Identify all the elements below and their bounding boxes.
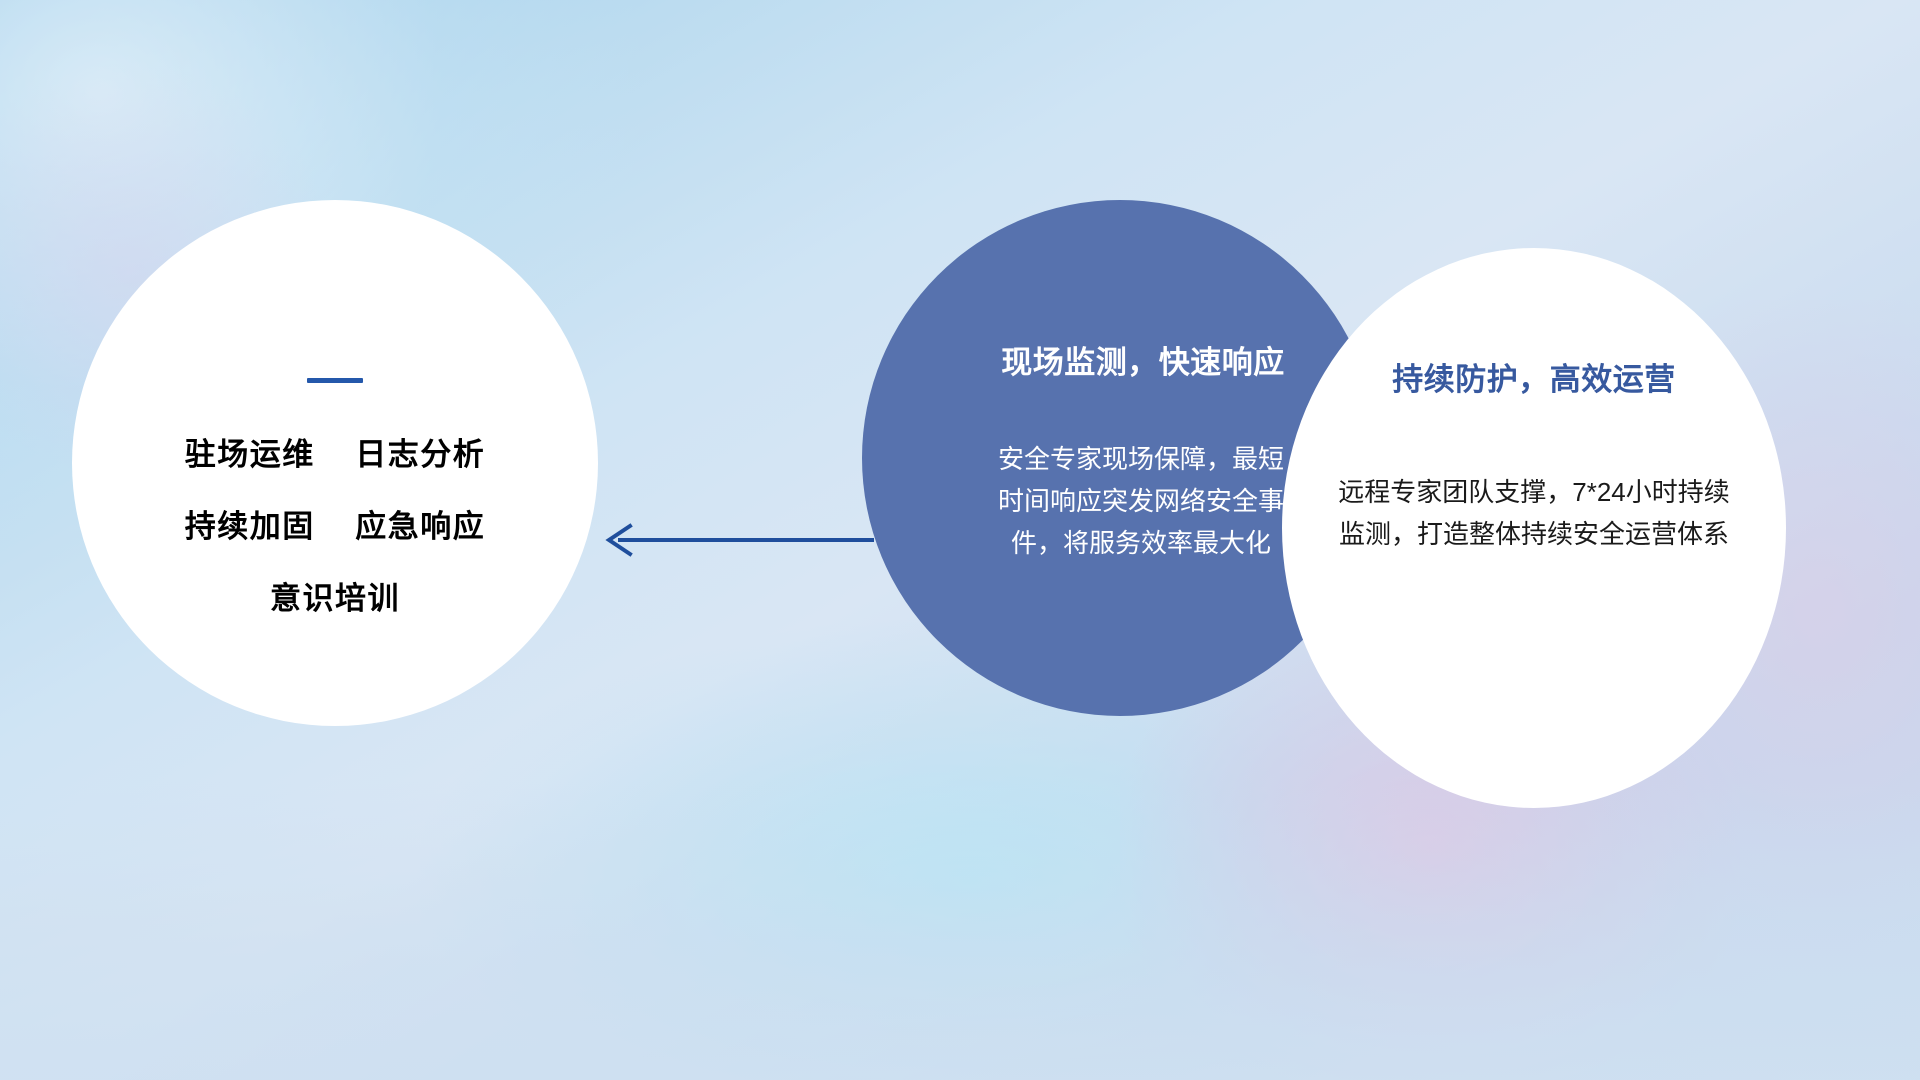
continuous-operations-body: 远程专家团队支撑，7*24小时持续监测，打造整体持续安全运营体系 [1332, 471, 1736, 555]
divider-rule [307, 378, 363, 383]
flow-arrow-left-icon [596, 518, 876, 562]
continuous-operations-title: 持续防护，高效运营 [1392, 364, 1676, 395]
background-bottom-fade [0, 780, 1920, 1080]
circle-continuous-operations-content: 持续防护，高效运营 远程专家团队支撑，7*24小时持续监测，打造整体持续安全运营… [1282, 248, 1786, 808]
capability-line-2: 持续加固 应急响应 [185, 511, 485, 542]
capability-line-3: 意识培训 [270, 583, 400, 614]
circle-capabilities-content: 驻场运维 日志分析 持续加固 应急响应 意识培训 [72, 200, 598, 726]
capability-line-1: 驻场运维 日志分析 [185, 439, 485, 470]
onsite-monitoring-body: 安全专家现场保障，最短时间响应突发网络安全事件，将服务效率最大化 [991, 438, 1291, 564]
onsite-monitoring-title: 现场监测，快速响应 [1001, 347, 1285, 378]
slide-canvas: 驻场运维 日志分析 持续加固 应急响应 意识培训 现场监测，快速响应 安全专家现… [0, 0, 1920, 1080]
